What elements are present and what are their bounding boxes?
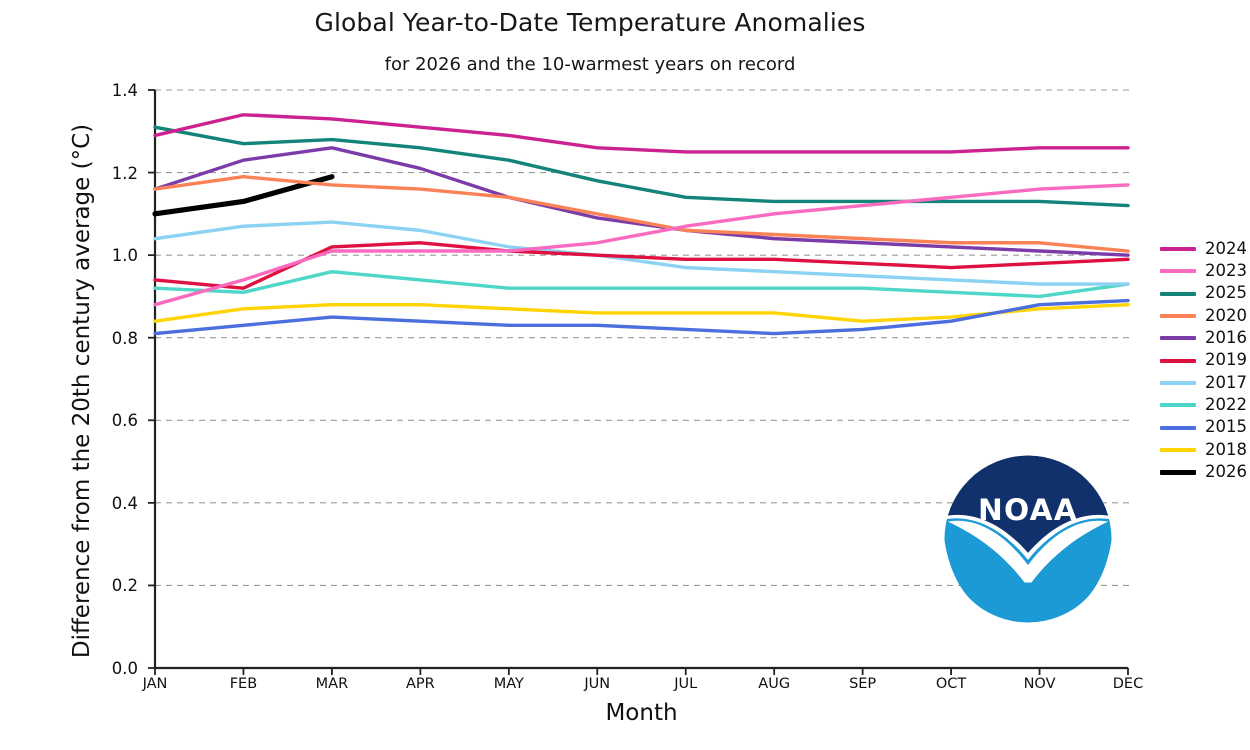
x-tick-label: MAY [469, 676, 549, 692]
x-tick-label: NOV [1000, 676, 1080, 692]
legend-label: 2016 [1205, 330, 1247, 347]
x-tick-label: JUN [557, 676, 637, 692]
legend: 2024202320252020201620192017202220152018… [1160, 238, 1247, 483]
legend-label: 2025 [1205, 285, 1247, 302]
x-tick-label: MAR [292, 676, 372, 692]
y-tick-label: 0.2 [90, 576, 138, 595]
y-tick-label: 1.2 [90, 164, 138, 183]
legend-item-2016[interactable]: 2016 [1160, 327, 1247, 349]
legend-label: 2020 [1205, 308, 1247, 325]
chart-container: Global Year-to-Date Temperature Anomalie… [0, 0, 1250, 750]
x-tick-label: AUG [734, 676, 814, 692]
y-tick-label: 0.8 [90, 329, 138, 348]
x-tick-label: JUL [646, 676, 726, 692]
legend-item-2023[interactable]: 2023 [1160, 260, 1247, 282]
legend-item-2025[interactable]: 2025 [1160, 283, 1247, 305]
legend-label: 2024 [1205, 241, 1247, 258]
noaa-logo: NOAA [941, 452, 1115, 626]
legend-swatch-icon [1160, 269, 1196, 273]
legend-label: 2026 [1205, 464, 1247, 481]
legend-label: 2023 [1205, 263, 1247, 280]
legend-item-2019[interactable]: 2019 [1160, 349, 1247, 371]
legend-swatch-icon [1160, 470, 1196, 475]
legend-swatch-icon [1160, 336, 1196, 340]
x-tick-label: DEC [1088, 676, 1168, 692]
legend-swatch-icon [1160, 359, 1196, 363]
x-tick-label: APR [380, 676, 460, 692]
legend-item-2020[interactable]: 2020 [1160, 305, 1247, 327]
series-line-2022 [155, 272, 1128, 297]
x-tick-label: JAN [115, 676, 195, 692]
legend-item-2024[interactable]: 2024 [1160, 238, 1247, 260]
legend-swatch-icon [1160, 292, 1196, 296]
legend-swatch-icon [1160, 426, 1196, 430]
legend-label: 2018 [1205, 442, 1247, 459]
legend-swatch-icon [1160, 314, 1196, 318]
x-tick-label: SEP [823, 676, 903, 692]
legend-label: 2022 [1205, 397, 1247, 414]
legend-item-2017[interactable]: 2017 [1160, 372, 1247, 394]
legend-swatch-icon [1160, 381, 1196, 385]
legend-label: 2019 [1205, 352, 1247, 369]
x-tick-label: OCT [911, 676, 991, 692]
legend-swatch-icon [1160, 448, 1196, 452]
x-tick-label: FEB [203, 676, 283, 692]
y-tick-label: 1.0 [90, 246, 138, 265]
x-axis-label: Month [155, 700, 1128, 726]
legend-item-2022[interactable]: 2022 [1160, 394, 1247, 416]
series-line-2017 [155, 222, 1128, 284]
legend-label: 2017 [1205, 375, 1247, 392]
legend-item-2026[interactable]: 2026 [1160, 461, 1247, 483]
series-line-2024 [155, 115, 1128, 152]
noaa-logo-text: NOAA [978, 493, 1078, 527]
legend-label: 2015 [1205, 419, 1247, 436]
y-tick-label: 0.6 [90, 411, 138, 430]
legend-swatch-icon [1160, 403, 1196, 407]
y-tick-label: 1.4 [90, 81, 138, 100]
y-axis-label: Difference from the 20th century average… [69, 101, 95, 681]
y-tick-label: 0.4 [90, 494, 138, 513]
legend-item-2018[interactable]: 2018 [1160, 439, 1247, 461]
plot-area [0, 0, 1250, 750]
legend-item-2015[interactable]: 2015 [1160, 416, 1247, 438]
legend-swatch-icon [1160, 247, 1196, 251]
